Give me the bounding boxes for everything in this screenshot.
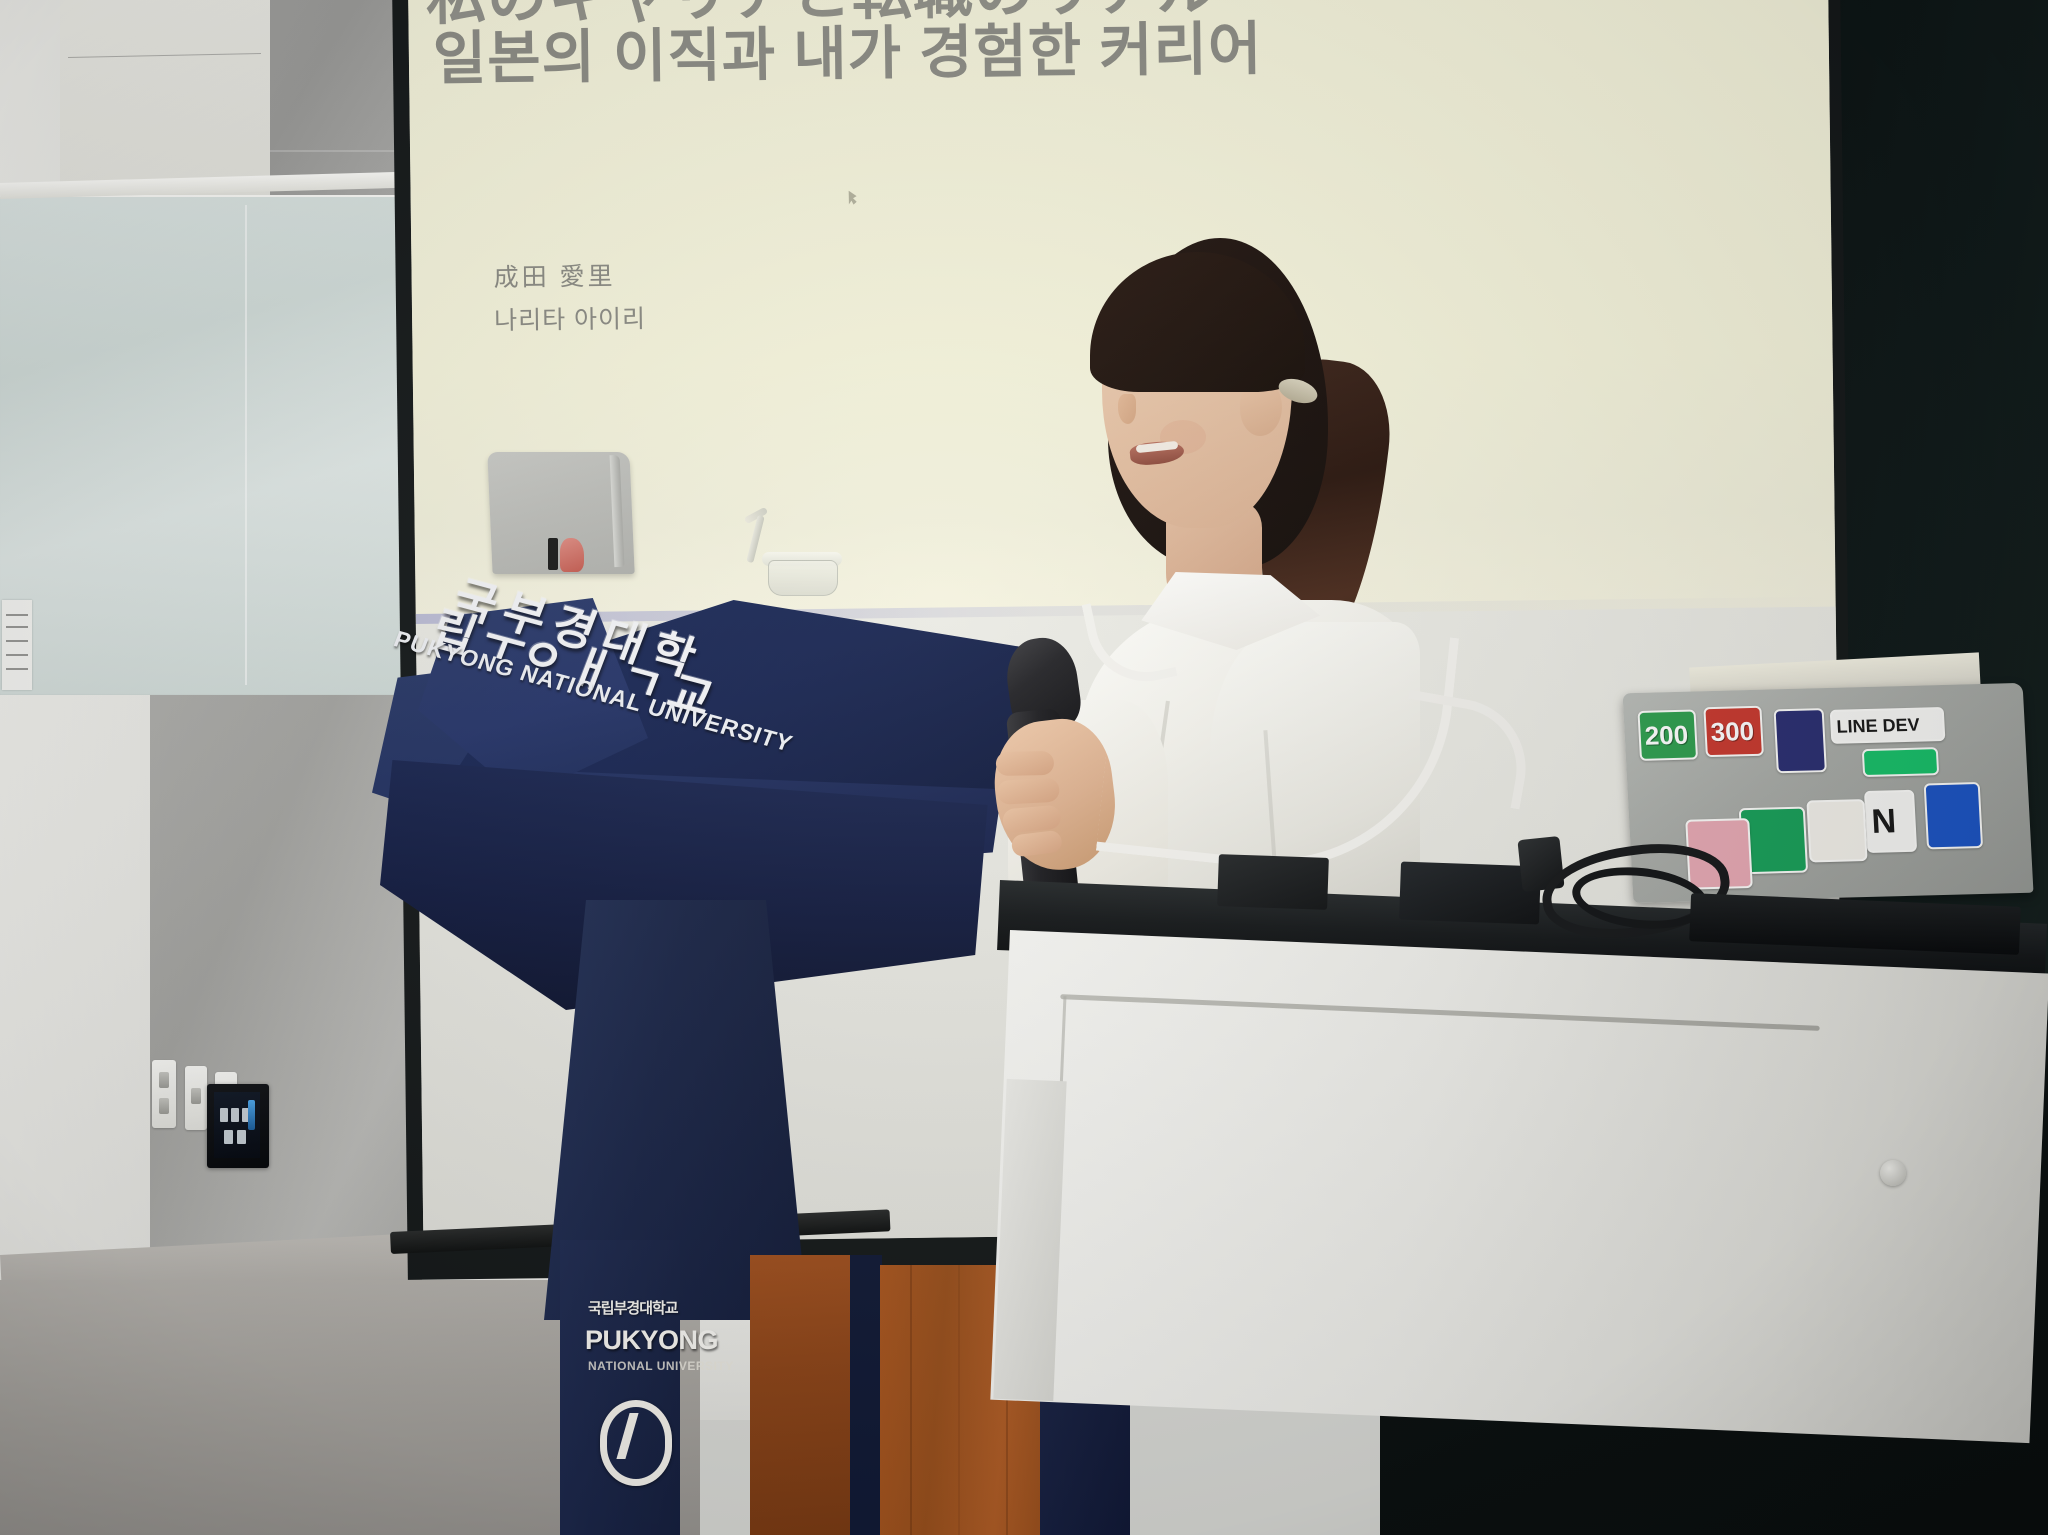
plastic-cup [768,560,838,596]
photo-scene: 私のキャリアと転職のリアル 일본의 이직과 내가 경험한 커리어 成田 愛里 나… [0,0,2048,1535]
desk-panel-edge [1057,996,1826,1178]
desk-black-box-1 [1217,854,1329,910]
laptop-sticker-2 [1774,708,1827,773]
av-control-panel[interactable] [207,1084,269,1168]
laptop-sticker-label: N [1871,804,1897,839]
av-panel-led-icon [248,1100,255,1130]
laptop-sticker-9 [1806,799,1867,862]
laptop-sticker-label: 300 [1710,718,1755,745]
laptop-sticker-200: 200 [1637,709,1698,760]
plaque-pukyong-text: PUKYONG [585,1325,718,1356]
laptop-sticker-line-dev: LINE DEV [1830,707,1946,744]
wall-white-mid [0,620,150,1300]
plaque-national-university-text: NATIONAL UNIVERSITY [588,1359,734,1373]
slide-author-korean: 나리타 아이리 [494,299,646,337]
wall-switch-1[interactable] [152,1060,176,1128]
slide-title-line2: 일본의 이직과 내가 경험한 커리어 [432,2,1262,96]
podium-laptop-sticker-red [560,538,584,572]
laptop-sticker-label: LINE DEV [1836,716,1920,736]
laptop-sticker-300: 300 [1703,706,1764,757]
podium-wood-gap [850,1255,882,1535]
laptop-sticker-n: N [1864,790,1917,853]
laptop-sticker-label: 200 [1644,722,1689,749]
university-emblem-icon [600,1400,672,1486]
podium-base-left [560,1240,680,1535]
desk-knob[interactable] [1880,1160,1906,1186]
glass-seam [245,205,247,685]
slide-author-japanese: 成田 愛里 [493,256,615,293]
paper-notice-label [2,600,32,690]
presenter-nose [1118,394,1136,424]
laptop-sticker-4 [1862,747,1939,777]
plaque-korean-name: 국립부경대학교 [588,1297,678,1318]
podium-wood-plaque-panel [750,1255,850,1535]
frosted-glass-partition [0,195,412,695]
wall-panel-cream [60,0,270,200]
podium-laptop-sticker-dark [548,538,558,570]
wall-switch-2[interactable] [185,1066,207,1130]
laptop-sticker-6 [1924,782,1983,849]
